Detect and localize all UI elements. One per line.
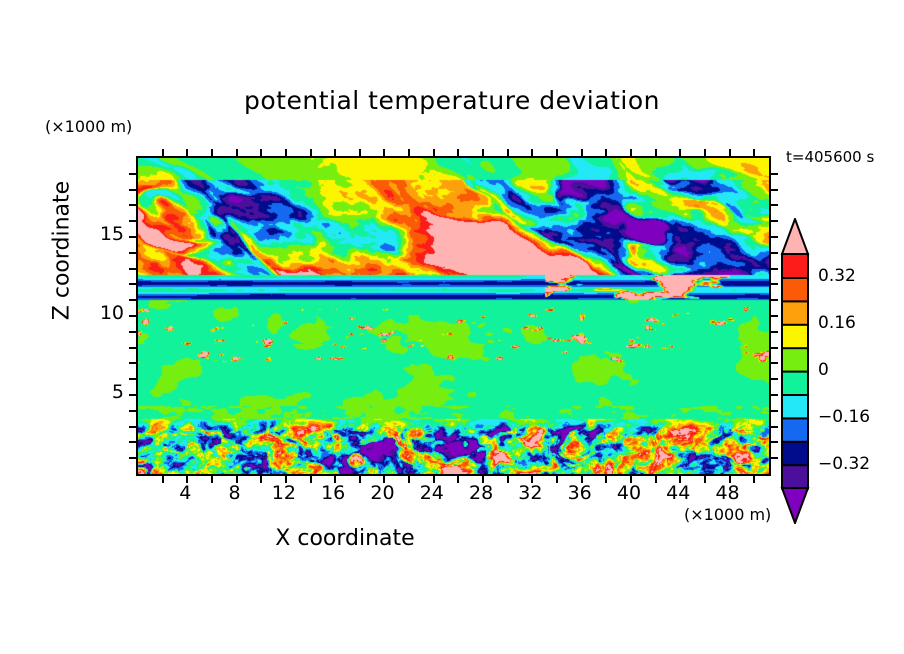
x-tick-label: 16 bbox=[311, 482, 355, 504]
x-tick-top bbox=[581, 149, 583, 158]
colorbar-band-2 bbox=[782, 418, 808, 442]
figure-canvas: potential temperature deviation (×1000 m… bbox=[0, 0, 904, 654]
y-tick-right bbox=[771, 331, 778, 333]
colorbar-band-3 bbox=[782, 394, 808, 418]
colorbar-band-7 bbox=[782, 301, 808, 325]
x-tick-top bbox=[482, 149, 484, 158]
page-title: potential temperature deviation bbox=[0, 86, 904, 115]
x-tick bbox=[753, 476, 755, 483]
colorbar-band-6 bbox=[782, 324, 808, 348]
y-tick bbox=[129, 173, 136, 175]
x-axis-title: X coordinate bbox=[0, 526, 690, 551]
x-tick-top bbox=[679, 149, 681, 158]
x-tick-top bbox=[186, 149, 188, 158]
y-tick-right bbox=[769, 394, 778, 396]
x-tick-label: 28 bbox=[459, 482, 503, 504]
x-tick-top bbox=[729, 149, 731, 158]
y-tick-right bbox=[771, 299, 778, 301]
colorbar-tick-label: 0.16 bbox=[818, 313, 856, 333]
colorbar-tick-label: 0.32 bbox=[818, 266, 856, 286]
x-tick-top bbox=[310, 149, 312, 156]
colorbar-over-cap bbox=[782, 219, 808, 254]
y-tick-right bbox=[771, 268, 778, 270]
x-tick-label: 12 bbox=[262, 482, 306, 504]
y-tick-label: 5 bbox=[86, 381, 124, 403]
y-tick bbox=[129, 457, 136, 459]
y-tick-right bbox=[771, 441, 778, 443]
y-tick-right bbox=[769, 315, 778, 317]
x-tick-top bbox=[556, 149, 558, 156]
x-tick-top bbox=[236, 149, 238, 158]
y-tick-right bbox=[771, 410, 778, 412]
y-tick bbox=[129, 236, 138, 238]
y-tick-right bbox=[771, 347, 778, 349]
y-tick bbox=[129, 283, 136, 285]
y-tick bbox=[129, 189, 136, 191]
x-tick-label: 44 bbox=[656, 482, 700, 504]
x-tick-label: 20 bbox=[360, 482, 404, 504]
y-tick bbox=[129, 441, 136, 443]
z-axis-unit-label: (×1000 m) bbox=[45, 117, 132, 136]
y-tick bbox=[129, 347, 136, 349]
y-tick bbox=[129, 204, 136, 206]
x-tick-top bbox=[630, 149, 632, 158]
x-tick-top bbox=[704, 149, 706, 156]
y-tick bbox=[129, 410, 136, 412]
y-tick-right bbox=[771, 362, 778, 364]
colorbar-tick-label: 0 bbox=[818, 360, 829, 380]
x-tick-top bbox=[334, 149, 336, 158]
x-tick-top bbox=[531, 149, 533, 158]
y-tick bbox=[129, 394, 138, 396]
x-tick-label: 24 bbox=[410, 482, 454, 504]
colorbar-band-4 bbox=[782, 371, 808, 395]
x-tick-label: 8 bbox=[213, 482, 257, 504]
y-tick-label: 10 bbox=[86, 302, 124, 324]
y-tick-right bbox=[771, 189, 778, 191]
y-tick bbox=[129, 252, 136, 254]
colorbar-under-cap bbox=[782, 488, 808, 523]
colorbar-band-8 bbox=[782, 277, 808, 301]
y-tick bbox=[129, 426, 136, 428]
y-tick bbox=[129, 378, 136, 380]
colorbar-tick-label: −0.32 bbox=[818, 454, 870, 474]
x-tick-top bbox=[507, 149, 509, 156]
contour-plot-panel bbox=[136, 156, 771, 476]
x-tick-label: 32 bbox=[508, 482, 552, 504]
y-tick-right bbox=[771, 173, 778, 175]
y-tick-right bbox=[771, 426, 778, 428]
y-tick bbox=[129, 315, 138, 317]
x-tick-top bbox=[605, 149, 607, 156]
x-tick-top bbox=[260, 149, 262, 156]
x-tick-top bbox=[359, 149, 361, 156]
x-tick-label: 36 bbox=[558, 482, 602, 504]
colorbar-tick-label: −0.16 bbox=[818, 407, 870, 427]
y-tick-right bbox=[771, 283, 778, 285]
y-tick-right bbox=[771, 378, 778, 380]
y-tick-right bbox=[769, 236, 778, 238]
x-tick-top bbox=[211, 149, 213, 156]
y-tick-right bbox=[771, 204, 778, 206]
x-tick-top bbox=[408, 149, 410, 156]
x-tick-label: 48 bbox=[706, 482, 750, 504]
y-tick bbox=[129, 299, 136, 301]
x-tick-top bbox=[655, 149, 657, 156]
colorbar-band-0 bbox=[782, 465, 808, 489]
y-tick bbox=[129, 362, 136, 364]
time-stamp-annotation: t=405600 s bbox=[786, 148, 874, 166]
x-tick-top bbox=[433, 149, 435, 158]
y-tick-right bbox=[771, 252, 778, 254]
colorbar-band-1 bbox=[782, 441, 808, 465]
y-tick bbox=[129, 268, 136, 270]
x-tick-top bbox=[383, 149, 385, 158]
x-tick-label: 4 bbox=[163, 482, 207, 504]
y-tick bbox=[129, 331, 136, 333]
colorbar-band-9 bbox=[782, 254, 808, 278]
x-tick-top bbox=[753, 149, 755, 156]
y-tick bbox=[129, 220, 136, 222]
y-tick-right bbox=[771, 457, 778, 459]
x-tick-top bbox=[457, 149, 459, 156]
y-axis-title: Z coordinate bbox=[50, 151, 75, 351]
y-tick-label: 15 bbox=[86, 223, 124, 245]
y-tick-right bbox=[771, 220, 778, 222]
x-axis-unit-label: (×1000 m) bbox=[684, 505, 771, 524]
x-tick-top bbox=[285, 149, 287, 158]
colorbar bbox=[778, 218, 812, 524]
x-tick-label: 40 bbox=[607, 482, 651, 504]
x-tick-top bbox=[162, 149, 164, 156]
colorbar-band-5 bbox=[782, 348, 808, 372]
contour-field bbox=[138, 158, 769, 474]
